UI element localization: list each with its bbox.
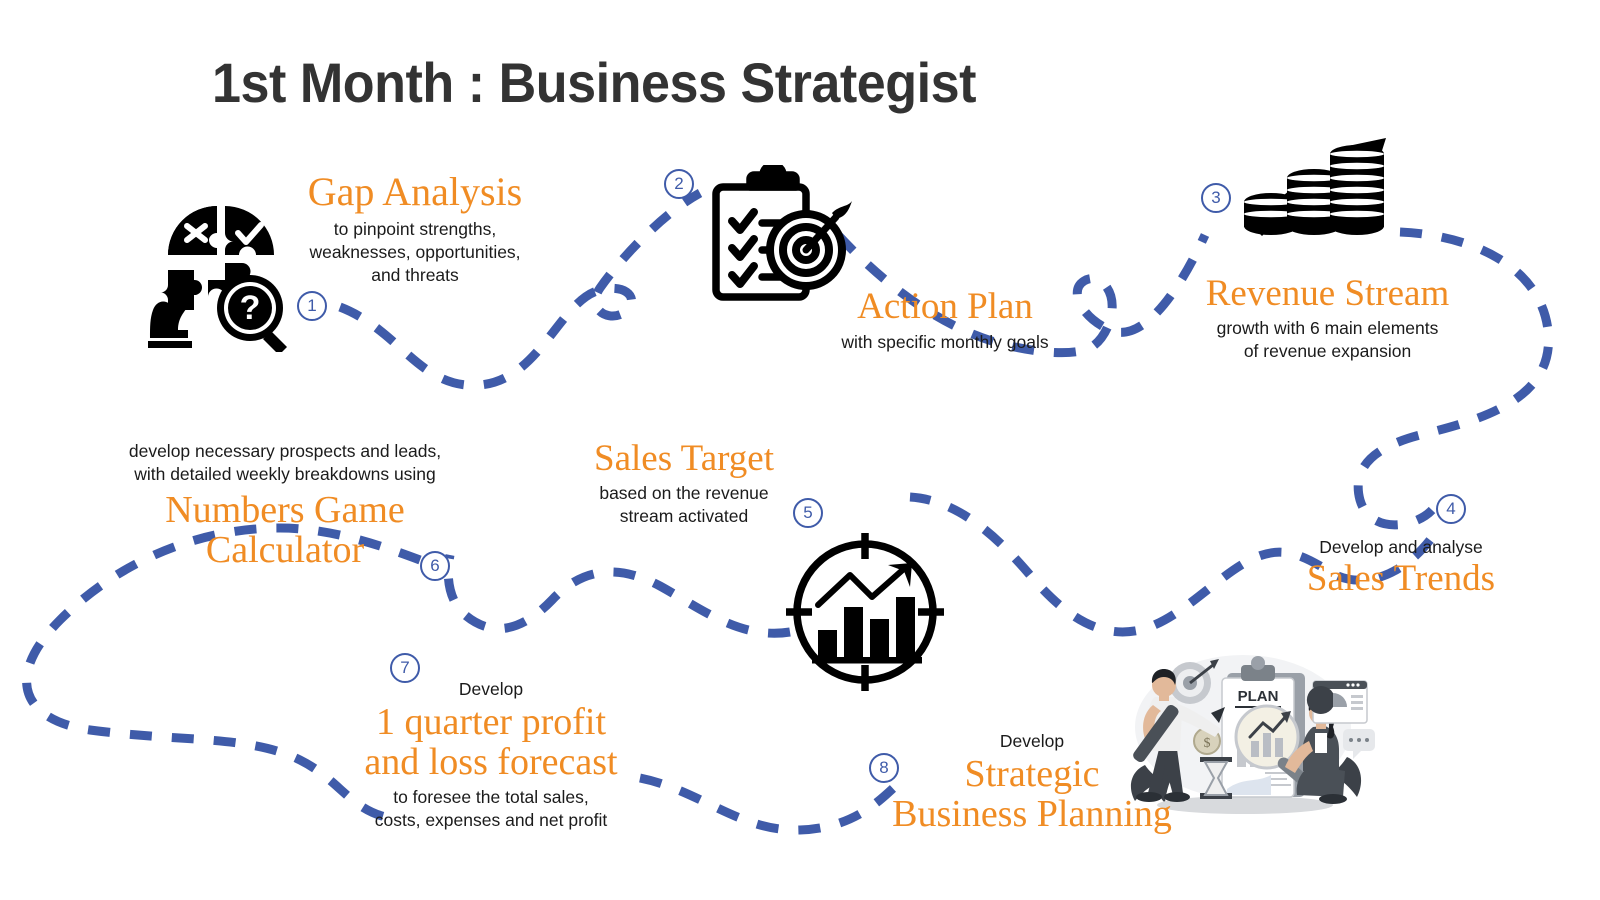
infographic-canvas: ? <box>0 0 1600 900</box>
step-5-heading: Sales Target <box>556 440 812 478</box>
step-8-heading: Strategic Business Planning <box>848 754 1216 835</box>
step-number-8[interactable]: 8 <box>869 753 899 783</box>
step-2-text-group: Action Plan with specific monthly goals <box>820 288 1070 354</box>
step-7-text-group: Develop 1 quarter profit and loss foreca… <box>316 678 666 832</box>
step-8-prefix: Develop <box>848 730 1216 753</box>
page-title: 1st Month : Business Strategist <box>212 50 976 115</box>
step-7-body: to foresee the total sales, costs, expen… <box>316 786 666 832</box>
step-8-text-group: Develop Strategic Business Planning <box>848 730 1216 835</box>
step-5-body: based on the revenue stream activated <box>556 482 812 528</box>
step-number-2[interactable]: 2 <box>664 169 694 199</box>
step-5-text-group: Sales Target based on the revenue stream… <box>556 440 812 528</box>
step-6-text-group: develop necessary prospects and leads, w… <box>90 440 480 571</box>
step-number-1[interactable]: 1 <box>297 291 327 321</box>
step-2-body: with specific monthly goals <box>820 331 1070 354</box>
step-4-prefix: Develop and analyse <box>1280 536 1522 559</box>
content-layer: 1st Month : Business Strategist Gap Anal… <box>0 0 1600 900</box>
step-2-heading: Action Plan <box>820 288 1070 326</box>
step-7-prefix: Develop <box>316 678 666 701</box>
step-3-text-group: Revenue Stream growth with 6 main elemen… <box>1180 275 1475 363</box>
step-number-6[interactable]: 6 <box>420 551 450 581</box>
step-6-prefix: develop necessary prospects and leads, w… <box>90 440 480 486</box>
step-3-heading: Revenue Stream <box>1180 275 1475 313</box>
step-number-7[interactable]: 7 <box>390 653 420 683</box>
step-7-heading: 1 quarter profit and loss forecast <box>316 702 666 783</box>
step-1-heading: Gap Analysis <box>290 172 540 213</box>
step-3-body: growth with 6 main elements of revenue e… <box>1180 317 1475 363</box>
step-number-3[interactable]: 3 <box>1201 183 1231 213</box>
step-1-text-group: Gap Analysis to pinpoint strengths, weak… <box>290 172 540 287</box>
step-1-body: to pinpoint strengths, weaknesses, oppor… <box>290 218 540 287</box>
step-number-5[interactable]: 5 <box>793 498 823 528</box>
step-4-text-group: Develop and analyse Sales Trends <box>1280 536 1522 598</box>
step-4-heading: Sales Trends <box>1280 560 1522 598</box>
step-number-4[interactable]: 4 <box>1436 494 1466 524</box>
